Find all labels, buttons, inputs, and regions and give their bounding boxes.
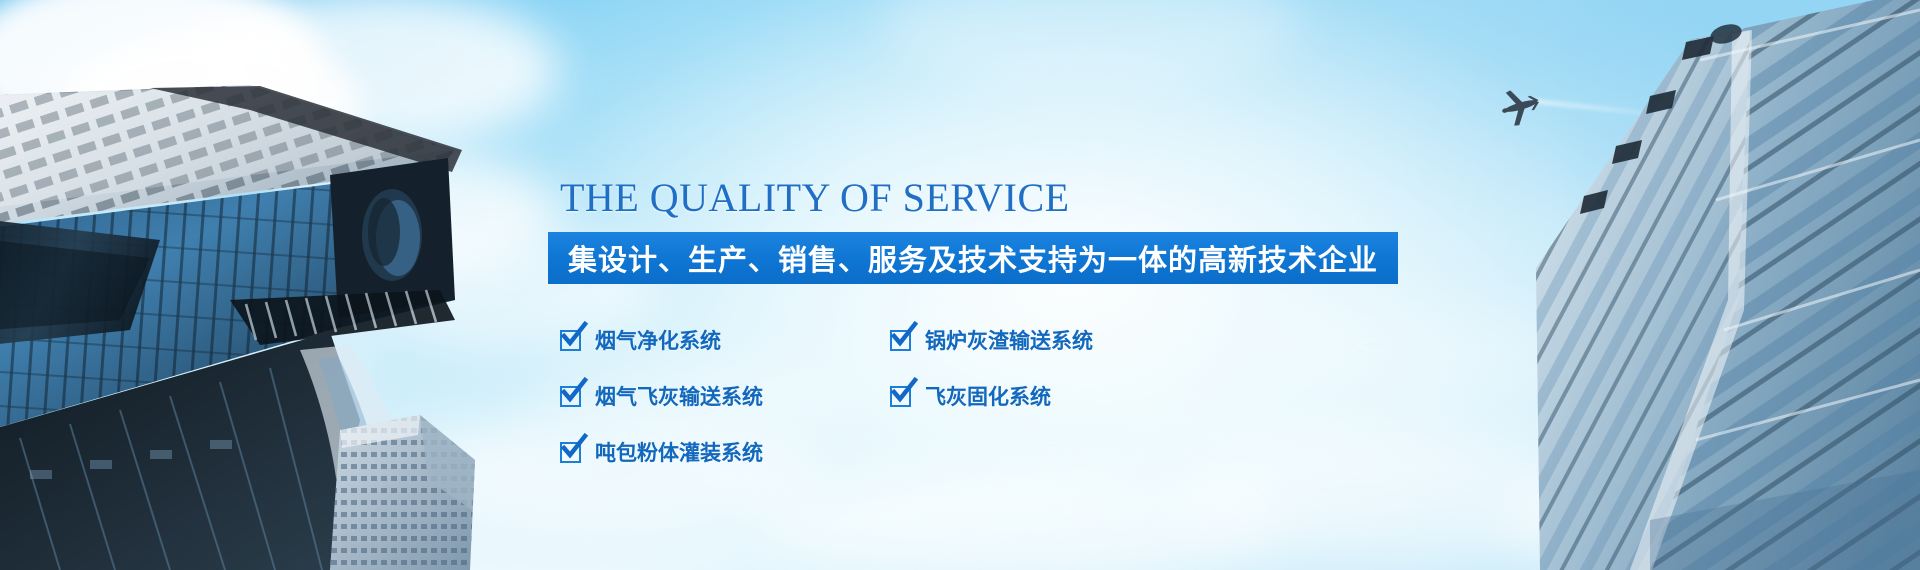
tagline-text: 集设计、生产、销售、服务及技术支持为一体的高新技术企业 bbox=[568, 237, 1378, 279]
glass-skyscraper-right bbox=[1500, 0, 1920, 570]
checkbox-checked-icon[interactable] bbox=[560, 386, 581, 407]
list-item[interactable]: 飞灰固化系统 bbox=[890, 368, 1220, 424]
list-item[interactable]: 锅炉灰渣输送系统 bbox=[890, 312, 1220, 368]
list-item-label: 烟气净化系统 bbox=[595, 325, 721, 355]
list-item[interactable]: 烟气飞灰输送系统 bbox=[560, 368, 890, 424]
banner-content: THE QUALITY OF SERVICE 集设计、生产、销售、服务及技术支持… bbox=[560, 0, 1460, 570]
feature-list: 烟气净化系统 锅炉灰渣输送系统 烟气飞灰输送系统 bbox=[560, 312, 1320, 480]
list-item-label: 锅炉灰渣输送系统 bbox=[925, 325, 1093, 355]
tagline-bar: 集设计、生产、销售、服务及技术支持为一体的高新技术企业 bbox=[548, 232, 1398, 284]
checkbox-checked-icon[interactable] bbox=[560, 330, 581, 351]
list-item[interactable]: 吨包粉体灌装系统 bbox=[560, 424, 890, 480]
page-title: THE QUALITY OF SERVICE bbox=[560, 178, 1070, 218]
list-item-label: 飞灰固化系统 bbox=[925, 381, 1051, 411]
list-item-label: 吨包粉体灌装系统 bbox=[595, 437, 763, 467]
checkbox-checked-icon[interactable] bbox=[560, 442, 581, 463]
hero-banner: THE QUALITY OF SERVICE 集设计、生产、销售、服务及技术支持… bbox=[0, 0, 1920, 570]
checkbox-checked-icon[interactable] bbox=[890, 330, 911, 351]
distant-building bbox=[300, 390, 490, 570]
list-item-label: 烟气飞灰输送系统 bbox=[595, 381, 763, 411]
checkbox-checked-icon[interactable] bbox=[890, 386, 911, 407]
list-item[interactable]: 烟气净化系统 bbox=[560, 312, 890, 368]
